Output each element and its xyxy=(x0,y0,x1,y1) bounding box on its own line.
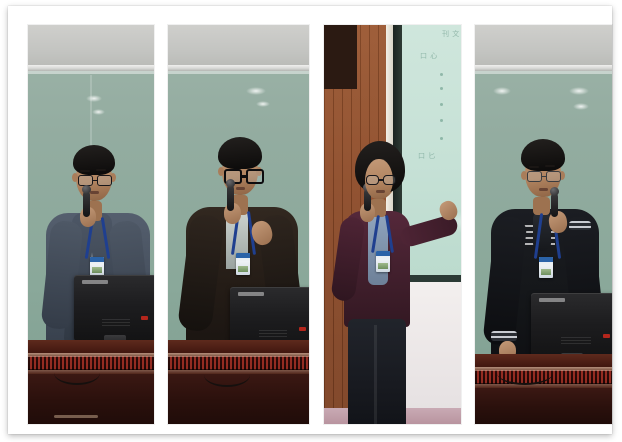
glasses-lens-right xyxy=(246,169,264,184)
lenovo-logo xyxy=(539,298,565,302)
slide-bullet xyxy=(440,119,443,122)
speaker-panel-1 xyxy=(28,25,154,424)
wall-glare-icon xyxy=(256,101,270,107)
lower-white-wall xyxy=(402,282,461,410)
monitor-vent xyxy=(259,330,288,337)
trouser-seam xyxy=(374,325,377,424)
screen-bottom-band xyxy=(402,275,461,282)
desk-front xyxy=(475,388,612,424)
speaker-1-mouth xyxy=(90,191,99,194)
collage-card: 刊 文 口 心 口 匕 xyxy=(8,6,612,434)
speaker-4-brow xyxy=(545,165,555,167)
microphone xyxy=(83,191,90,217)
speaker-panel-4 xyxy=(475,25,612,424)
slide-text-top: 刊 文 xyxy=(442,29,460,39)
conference-badge xyxy=(90,257,104,276)
board-top-edge xyxy=(168,71,309,74)
sweatshirt-cuff-left xyxy=(491,331,517,341)
speaker-4-hair xyxy=(521,139,565,171)
cable xyxy=(497,361,553,385)
panel-4-scene xyxy=(475,25,612,424)
monitor-led-icon xyxy=(299,327,306,331)
speaker-1-brow xyxy=(96,169,106,171)
monitor-led-icon xyxy=(141,316,148,320)
microphone-head-icon xyxy=(226,179,235,188)
wall-glare-icon xyxy=(573,103,589,110)
conference-badge xyxy=(539,257,553,278)
ceiling-soffit xyxy=(168,25,309,69)
speaker-1-brow xyxy=(80,170,90,172)
microphone xyxy=(227,185,234,211)
monitor-vent xyxy=(561,337,591,344)
lenovo-monitor xyxy=(531,293,612,359)
slide-bullet xyxy=(440,73,443,76)
sweatshirt-cuff-right xyxy=(569,221,591,230)
board-top-edge xyxy=(475,71,612,74)
slide-bullet xyxy=(440,87,443,90)
desk-reflection xyxy=(54,415,98,418)
speaker-3-trousers xyxy=(348,319,406,424)
monitor-led-icon xyxy=(603,334,610,338)
microphone-head-icon xyxy=(82,185,91,194)
wall-speaker-box xyxy=(324,25,357,89)
conference-badge xyxy=(236,253,250,275)
lenovo-logo xyxy=(238,292,264,296)
speaker-4-mouth xyxy=(539,188,548,191)
slide-text-b: 口 匕 xyxy=(418,151,436,161)
conference-badge xyxy=(376,251,390,272)
panel-1-scene xyxy=(28,25,154,424)
slide-bullet xyxy=(440,103,443,106)
glasses-lens-right xyxy=(383,175,396,185)
speaker-panel-3: 刊 文 口 心 口 匕 xyxy=(324,25,461,424)
glasses-lens-right xyxy=(546,171,561,182)
microphone-head-icon xyxy=(550,187,559,196)
glasses-icon xyxy=(527,171,561,182)
lenovo-monitor xyxy=(74,275,154,341)
microphone xyxy=(551,193,558,217)
wall-glare-icon xyxy=(246,87,266,95)
monitor-vent xyxy=(102,319,130,326)
desk-top xyxy=(28,340,154,353)
ceiling-soffit xyxy=(475,25,612,69)
lenovo-logo xyxy=(82,280,108,284)
speaker-2-mouth xyxy=(236,187,245,190)
speaker-panel-2 xyxy=(168,25,309,424)
glasses-icon xyxy=(78,175,112,186)
slide-bullet xyxy=(440,137,443,140)
speaker-2-hair xyxy=(218,137,262,169)
glasses-lens-left xyxy=(527,171,542,182)
slide-text-a: 口 心 xyxy=(420,51,438,61)
panel-3-scene: 刊 文 口 心 口 匕 xyxy=(324,25,461,424)
glasses-lens-left xyxy=(366,175,379,185)
cable xyxy=(54,361,100,385)
speaker-3-mouth xyxy=(376,190,385,193)
panel-2-scene xyxy=(168,25,309,424)
desk-top xyxy=(168,340,309,353)
glasses-icon xyxy=(366,175,396,185)
glasses-lens-right xyxy=(97,175,112,186)
wall-glare-icon xyxy=(493,87,511,95)
wall-glare-icon xyxy=(569,87,589,95)
cable xyxy=(204,363,250,387)
photo-collage: 刊 文 口 心 口 匕 xyxy=(0,0,622,442)
speaker-4-brow xyxy=(529,166,539,168)
